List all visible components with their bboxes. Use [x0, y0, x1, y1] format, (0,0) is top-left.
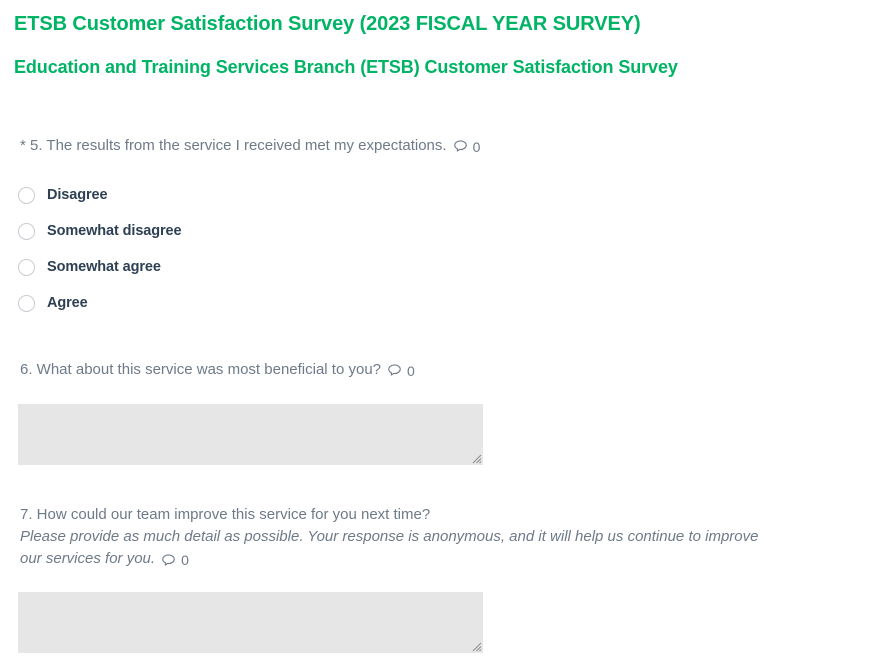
radio-circle-icon[interactable]	[18, 187, 35, 204]
comment-bubble-icon	[453, 139, 468, 154]
question-5-options: Disagree Somewhat disagree Somewhat agre…	[18, 177, 182, 321]
question-5: * 5. The results from the service I rece…	[20, 135, 480, 157]
question-6: 6. What about this service was most bene…	[20, 359, 415, 381]
resize-handle-icon[interactable]	[470, 640, 482, 652]
question-5-comment-count: 0	[473, 139, 481, 155]
radio-option-agree[interactable]: Agree	[18, 285, 182, 321]
question-7-comment-count: 0	[181, 549, 189, 571]
question-5-text: * 5. The results from the service I rece…	[20, 137, 447, 154]
radio-option-somewhat-disagree[interactable]: Somewhat disagree	[18, 213, 182, 249]
question-7-subtext-line1: Please provide as much detail as possibl…	[20, 526, 870, 548]
resize-handle-icon[interactable]	[470, 452, 482, 464]
question-7-comment-badge[interactable]: 0	[161, 549, 189, 571]
question-7: 7. How could our team improve this servi…	[20, 504, 870, 570]
radio-circle-icon[interactable]	[18, 259, 35, 276]
survey-page: ETSB Customer Satisfaction Survey (2023 …	[0, 0, 872, 667]
page-title: ETSB Customer Satisfaction Survey (2023 …	[14, 13, 641, 36]
question-7-subtext-line2: our services for you.	[20, 550, 155, 567]
radio-option-label: Agree	[47, 295, 88, 311]
question-6-comment-count: 0	[407, 363, 415, 379]
radio-option-label: Somewhat agree	[47, 259, 161, 275]
radio-option-label: Somewhat disagree	[47, 223, 182, 239]
comment-bubble-icon	[387, 363, 402, 378]
radio-circle-icon[interactable]	[18, 295, 35, 312]
radio-option-disagree[interactable]: Disagree	[18, 177, 182, 213]
question-6-textarea-value	[18, 404, 483, 416]
question-6-comment-badge[interactable]: 0	[387, 363, 415, 379]
question-7-textarea[interactable]	[18, 592, 483, 653]
page-subtitle: Education and Training Services Branch (…	[14, 57, 678, 78]
radio-circle-icon[interactable]	[18, 223, 35, 240]
comment-bubble-icon	[161, 553, 176, 568]
question-6-textarea[interactable]	[18, 404, 483, 465]
question-7-text: 7. How could our team improve this servi…	[20, 504, 870, 526]
question-7-textarea-value	[18, 592, 483, 604]
radio-option-somewhat-agree[interactable]: Somewhat agree	[18, 249, 182, 285]
radio-option-label: Disagree	[47, 187, 107, 203]
question-5-comment-badge[interactable]: 0	[453, 139, 481, 155]
question-6-text: 6. What about this service was most bene…	[20, 361, 381, 378]
